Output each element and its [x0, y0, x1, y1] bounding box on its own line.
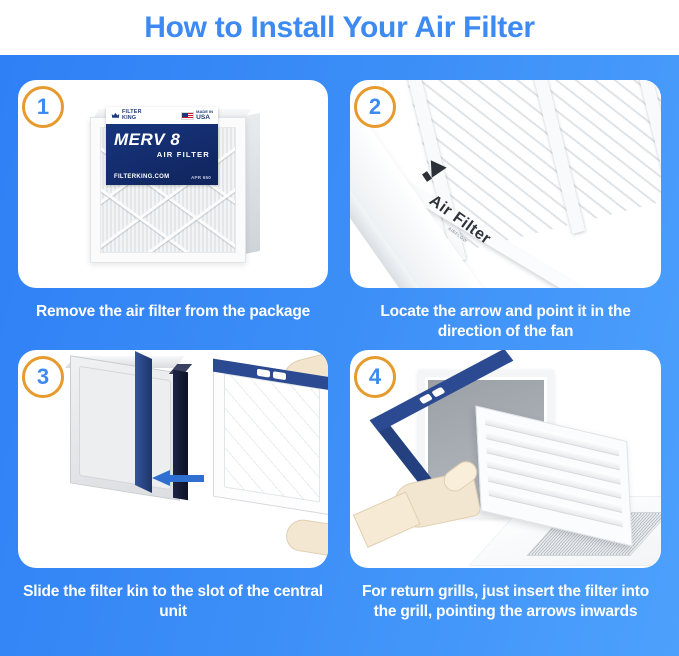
forearm	[353, 491, 421, 547]
made-in-usa-badge: MADE IN USA	[181, 110, 213, 121]
header: How to Install Your Air Filter	[0, 0, 679, 55]
step-3-image-card	[18, 350, 328, 568]
product-label-footer: FILTERKING.COM APR 650	[114, 174, 211, 180]
step-2-image-card: Air Filter AIRFLOW	[350, 80, 661, 288]
step-panel-1: FILTER KING MADE IN USA	[18, 80, 328, 380]
steps-grid: FILTER KING MADE IN USA	[0, 55, 679, 656]
step-number-2: 2	[369, 94, 381, 120]
hand-inserting-filter	[390, 470, 482, 532]
crown-icon	[111, 111, 120, 120]
product-label-body: MERV 8 AIR FILTER FILTERKING.COM APR 650	[106, 124, 218, 185]
us-flag-icon	[181, 112, 194, 120]
filter-king-logo: FILTER KING	[111, 110, 142, 121]
filter-mesh	[224, 373, 320, 502]
step-caption-1: Remove the air filter from the package	[18, 302, 328, 322]
slide-filter-illustration	[18, 350, 328, 568]
label-subtitle: AIR FILTER	[114, 150, 210, 159]
direction-arrow-icon	[152, 470, 204, 486]
infographic-page: How to Install Your Air Filter	[0, 0, 679, 656]
step-caption-2: Locate the arrow and point it in the dir…	[350, 302, 661, 342]
step-badge-1: 1	[22, 86, 64, 128]
product-label: FILTER KING MADE IN USA	[106, 107, 218, 185]
filter-navy-side	[135, 351, 152, 493]
filter-package-illustration: FILTER KING MADE IN USA	[18, 80, 328, 288]
apr-rating: APR 650	[191, 175, 211, 180]
step-number-1: 1	[37, 94, 49, 120]
made-in-usa-text: MADE IN USA	[196, 110, 213, 121]
step-caption-4: For return grills, just insert the filte…	[360, 582, 651, 622]
merv-rating: MERV 8	[114, 131, 210, 149]
step-panel-4: 4 For return grills, just insert the fil…	[350, 350, 661, 650]
hand-lower	[284, 517, 328, 559]
step-1-image-card: FILTER KING MADE IN USA	[18, 80, 328, 288]
page-title: How to Install Your Air Filter	[144, 13, 534, 43]
grill-louvered-door	[475, 406, 632, 547]
product-label-header: FILTER KING MADE IN USA	[106, 107, 218, 124]
brand-website: FILTERKING.COM	[114, 174, 169, 180]
step-4-image-card	[350, 350, 661, 568]
step-badge-3: 3	[22, 356, 64, 398]
step-badge-2: 2	[354, 86, 396, 128]
filter-being-inserted	[213, 359, 328, 516]
brand-text: FILTER KING	[122, 110, 142, 121]
step-panel-3: 3 Slide the filter kin to the slot of th…	[18, 350, 328, 650]
filter-corner-illustration: Air Filter AIRFLOW	[350, 80, 661, 288]
made-in-label: MADE IN	[196, 109, 213, 114]
step-number-3: 3	[37, 364, 49, 390]
step-panel-2: Air Filter AIRFLOW 2 Locate the arrow an…	[350, 80, 661, 380]
air-filter-photo: FILTER KING MADE IN USA	[90, 105, 260, 263]
brand-line-2: KING	[122, 116, 142, 121]
step-caption-3: Slide the filter kin to the slot of the …	[18, 582, 328, 622]
return-grill-illustration	[350, 350, 661, 568]
country-label: USA	[196, 114, 213, 121]
step-number-4: 4	[369, 364, 381, 390]
step-badge-4: 4	[354, 356, 396, 398]
